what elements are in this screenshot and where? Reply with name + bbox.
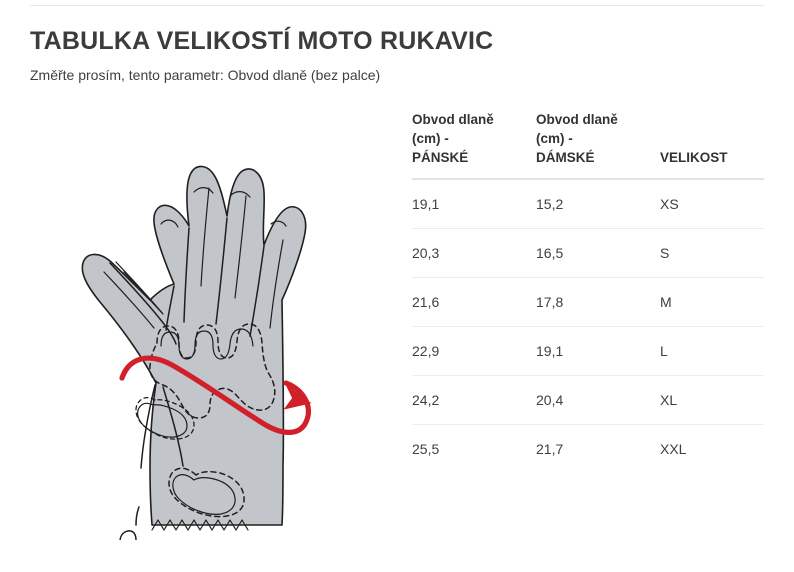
cell-men: 20,3 xyxy=(412,229,536,278)
table-header-row: Obvod dlaně (cm) - PÁNSKÉ Obvod dlaně (c… xyxy=(412,110,764,179)
size-table: Obvod dlaně (cm) - PÁNSKÉ Obvod dlaně (c… xyxy=(412,110,764,473)
column-header-size: VELIKOST xyxy=(660,110,764,179)
table-row: 25,521,7XXL xyxy=(412,425,764,474)
column-header-women: Obvod dlaně (cm) - DÁMSKÉ xyxy=(536,110,660,179)
table-row: 22,919,1L xyxy=(412,327,764,376)
cell-size: S xyxy=(660,229,764,278)
cell-men: 22,9 xyxy=(412,327,536,376)
column-header-women-line2: (cm) - xyxy=(536,131,573,146)
size-table-head: Obvod dlaně (cm) - PÁNSKÉ Obvod dlaně (c… xyxy=(412,110,764,179)
size-table-body: 19,115,2XS20,316,5S21,617,8M22,919,1L24,… xyxy=(412,179,764,473)
glove-illustration: .gf { fill:#c2c5ca; stroke:#1f1f1f; stro… xyxy=(24,100,344,540)
cell-men: 24,2 xyxy=(412,376,536,425)
page-title: TABULKA VELIKOSTÍ MOTO RUKAVIC xyxy=(30,26,493,56)
cell-women: 15,2 xyxy=(536,179,660,229)
cell-size: XL xyxy=(660,376,764,425)
column-header-women-line1: Obvod dlaně xyxy=(536,112,618,127)
table-row: 24,220,4XL xyxy=(412,376,764,425)
table-row: 19,115,2XS xyxy=(412,179,764,229)
cell-size: L xyxy=(660,327,764,376)
cell-women: 20,4 xyxy=(536,376,660,425)
cell-men: 21,6 xyxy=(412,278,536,327)
cell-women: 17,8 xyxy=(536,278,660,327)
size-table-container: Obvod dlaně (cm) - PÁNSKÉ Obvod dlaně (c… xyxy=(412,110,764,473)
size-chart-page: TABULKA VELIKOSTÍ MOTO RUKAVIC Změřte pr… xyxy=(0,0,794,572)
cell-size: M xyxy=(660,278,764,327)
column-header-women-line3: DÁMSKÉ xyxy=(536,150,595,165)
cell-size: XXL xyxy=(660,425,764,474)
column-header-men-line1: Obvod dlaně xyxy=(412,112,494,127)
table-row: 20,316,5S xyxy=(412,229,764,278)
cell-men: 25,5 xyxy=(412,425,536,474)
column-header-men-line2: (cm) - xyxy=(412,131,449,146)
cell-men: 19,1 xyxy=(412,179,536,229)
cell-women: 21,7 xyxy=(536,425,660,474)
column-header-size-label: VELIKOST xyxy=(660,150,728,165)
column-header-men-line3: PÁNSKÉ xyxy=(412,150,468,165)
glove-body xyxy=(82,166,305,525)
table-row: 21,617,8M xyxy=(412,278,764,327)
cell-size: XS xyxy=(660,179,764,229)
cell-women: 16,5 xyxy=(536,229,660,278)
top-divider xyxy=(30,5,764,6)
column-header-men: Obvod dlaně (cm) - PÁNSKÉ xyxy=(412,110,536,179)
page-subtitle: Změřte prosím, tento parametr: Obvod dla… xyxy=(30,66,380,84)
cell-women: 19,1 xyxy=(536,327,660,376)
